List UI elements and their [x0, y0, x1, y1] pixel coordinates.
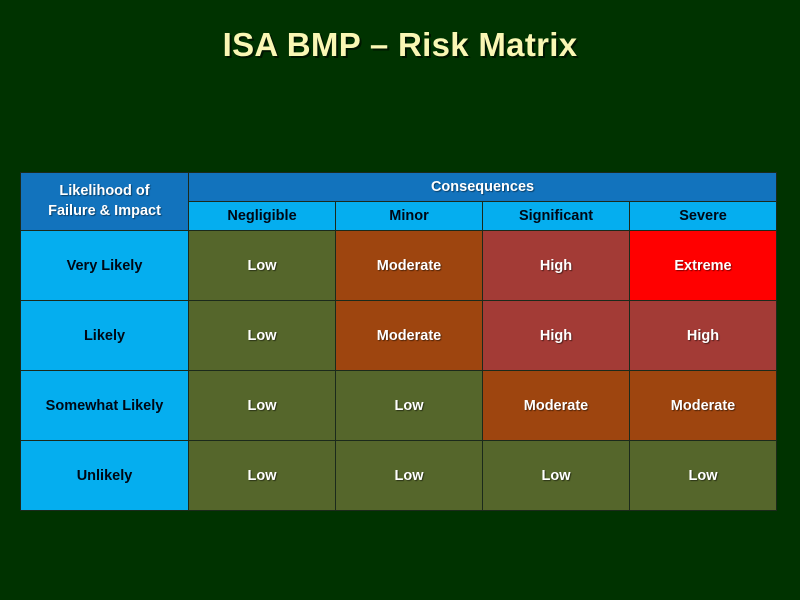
table-row: Somewhat Likely Low Low Moderate Moderat… — [21, 371, 777, 441]
risk-cell-somewhat-likely-negligible: Low — [189, 371, 336, 441]
slide-canvas: ISA BMP – Risk Matrix Likelihood of Fail… — [0, 0, 800, 600]
risk-cell-unlikely-severe: Low — [630, 441, 777, 511]
row-label-unlikely: Unlikely — [21, 441, 189, 511]
risk-cell-somewhat-likely-minor: Low — [336, 371, 483, 441]
row-label-very-likely: Very Likely — [21, 231, 189, 301]
header-consequence-minor: Minor — [336, 202, 483, 231]
page-title: ISA BMP – Risk Matrix — [0, 26, 800, 64]
table-row: Unlikely Low Low Low Low — [21, 441, 777, 511]
risk-cell-likely-negligible: Low — [189, 301, 336, 371]
header-likelihood-of-failure-and-impact: Likelihood of Failure & Impact — [21, 173, 189, 231]
risk-cell-somewhat-likely-significant: Moderate — [483, 371, 630, 441]
risk-cell-unlikely-negligible: Low — [189, 441, 336, 511]
header-consequence-significant: Significant — [483, 202, 630, 231]
header-consequence-negligible: Negligible — [189, 202, 336, 231]
risk-cell-likely-minor: Moderate — [336, 301, 483, 371]
header-likelihood-line-1: Likelihood of — [59, 183, 149, 199]
row-label-somewhat-likely: Somewhat Likely — [21, 371, 189, 441]
header-likelihood-line-2: Failure & Impact — [48, 203, 161, 219]
risk-cell-likely-significant: High — [483, 301, 630, 371]
table-row: Likely Low Moderate High High — [21, 301, 777, 371]
risk-cell-very-likely-severe: Extreme — [630, 231, 777, 301]
row-label-likely: Likely — [21, 301, 189, 371]
header-consequences: Consequences — [189, 173, 777, 202]
risk-cell-very-likely-significant: High — [483, 231, 630, 301]
risk-matrix-table: Likelihood of Failure & Impact Consequen… — [20, 172, 777, 511]
header-consequence-severe: Severe — [630, 202, 777, 231]
risk-cell-likely-severe: High — [630, 301, 777, 371]
table-header-row-top: Likelihood of Failure & Impact Consequen… — [21, 173, 777, 202]
risk-cell-very-likely-minor: Moderate — [336, 231, 483, 301]
risk-cell-somewhat-likely-severe: Moderate — [630, 371, 777, 441]
risk-cell-unlikely-significant: Low — [483, 441, 630, 511]
table-row: Very Likely Low Moderate High Extreme — [21, 231, 777, 301]
risk-cell-very-likely-negligible: Low — [189, 231, 336, 301]
risk-cell-unlikely-minor: Low — [336, 441, 483, 511]
